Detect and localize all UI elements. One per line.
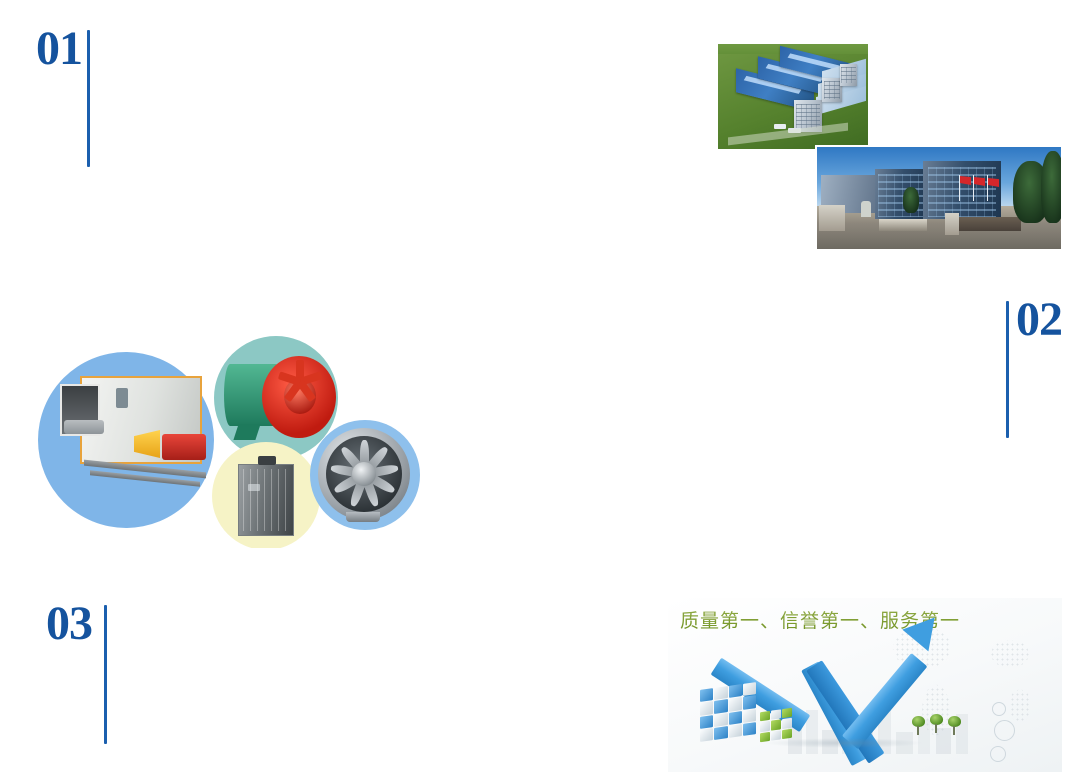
cube — [729, 684, 742, 698]
boundary-wall — [959, 217, 1021, 231]
flag-pole — [959, 175, 960, 201]
fan-mount-foot — [233, 424, 260, 440]
main-office-building — [923, 161, 1001, 219]
cube — [782, 728, 792, 739]
main-office-building — [875, 169, 927, 219]
cube — [771, 709, 781, 720]
cabinet-centrifugal-fan — [56, 372, 216, 494]
section-rule-01 — [87, 30, 90, 167]
poster-page: 01 — [0, 0, 1074, 772]
fan-mount-bracket — [346, 512, 380, 522]
cube — [760, 721, 770, 732]
product-collage — [32, 330, 422, 548]
section-rule-03 — [104, 605, 107, 744]
section-number-02: 02 — [1016, 297, 1062, 343]
green-cube-cluster — [760, 708, 792, 742]
entrance-gate — [945, 213, 959, 235]
cube — [743, 682, 756, 696]
decorative-ring — [990, 746, 1006, 762]
growth-arrow-banner: 质量第一、信誉第一、服务第一 — [668, 598, 1062, 772]
cube — [771, 730, 781, 741]
cube — [714, 699, 727, 713]
metal-axial-fan — [318, 428, 416, 524]
office-block — [840, 64, 857, 86]
office-building-photo — [815, 145, 1063, 251]
tree-trunk — [953, 726, 955, 735]
cube — [714, 713, 727, 727]
cube — [700, 715, 713, 729]
damper-label — [248, 484, 260, 491]
tree-trunk — [935, 724, 937, 733]
blue-cube-cluster — [700, 682, 756, 742]
fan-hub — [352, 462, 376, 486]
cube — [743, 695, 756, 709]
cube — [729, 724, 742, 738]
cube — [729, 697, 742, 711]
cube — [760, 731, 770, 742]
office-block — [822, 78, 842, 102]
cube — [782, 708, 792, 719]
security-booth — [861, 201, 871, 217]
cube — [700, 688, 713, 702]
tree — [1041, 151, 1063, 223]
cube — [782, 718, 792, 729]
parked-truck — [879, 219, 927, 231]
section-marker-02: 02 — [1006, 297, 1062, 438]
cube — [714, 686, 727, 700]
damper-body — [238, 464, 294, 536]
tree — [903, 187, 919, 213]
damper-handle — [258, 456, 276, 465]
section-number-03: 03 — [46, 601, 92, 647]
fan-motor — [162, 434, 206, 460]
fan-control-panel — [116, 388, 128, 408]
air-damper-valve — [232, 454, 306, 540]
section-rule-02 — [1006, 301, 1009, 438]
factory-aerial-render — [718, 44, 868, 149]
cube — [760, 711, 770, 722]
cube — [743, 722, 756, 736]
section-marker-03: 03 — [46, 601, 107, 744]
decorative-ring — [992, 702, 1006, 716]
tree-trunk — [917, 726, 919, 735]
decorative-ring — [994, 720, 1015, 741]
tree — [912, 716, 926, 736]
fan-impeller — [64, 420, 104, 434]
guard-post — [819, 205, 845, 231]
flag-pole — [973, 175, 974, 201]
tree — [930, 714, 944, 734]
tree — [948, 716, 962, 736]
cube — [743, 709, 756, 723]
cube — [729, 711, 742, 725]
yard-vehicle — [774, 124, 786, 129]
section-number-01: 01 — [36, 26, 82, 72]
section-marker-01: 01 — [36, 26, 90, 167]
cube — [700, 701, 713, 715]
arrow-shadow — [764, 738, 924, 748]
cube — [700, 728, 713, 742]
cube — [771, 720, 781, 731]
cube — [714, 726, 727, 740]
flag-pole — [987, 175, 988, 201]
